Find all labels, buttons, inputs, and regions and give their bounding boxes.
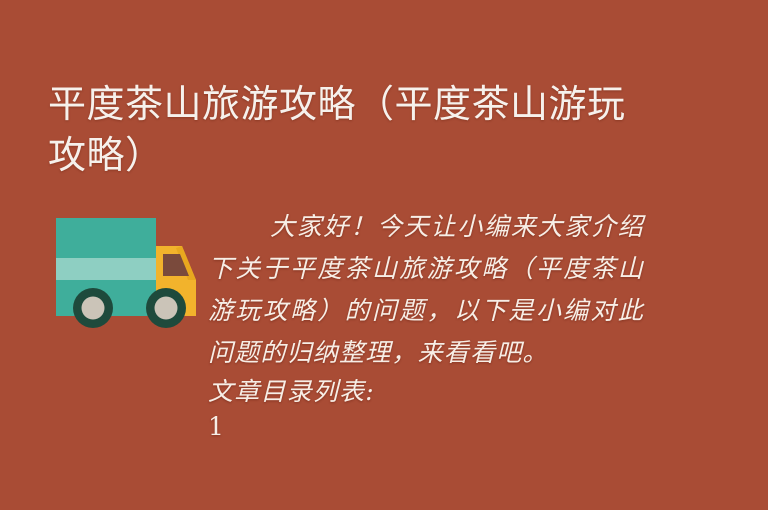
truck-cargo-upper (56, 218, 156, 258)
article-body: 大家好！今天让小编来大家介绍下关于平度茶山旅游攻略（平度茶山游玩攻略）的问题，以… (208, 206, 644, 444)
article-intro-paragraph: 大家好！今天让小编来大家介绍下关于平度茶山旅游攻略（平度茶山游玩攻略）的问题，以… (208, 206, 644, 374)
toc-first-item: 1 (208, 410, 644, 444)
delivery-truck-icon (50, 208, 202, 330)
truck-wheel-front-hub (155, 297, 178, 320)
delivery-truck-svg (50, 208, 202, 330)
truck-wheel-rear-hub (82, 297, 105, 320)
page-title: 平度茶山旅游攻略（平度茶山游玩攻略） (48, 79, 628, 181)
toc-heading: 文章目录列表: (208, 374, 644, 410)
article-card: 平度茶山旅游攻略（平度茶山游玩攻略） 大家好！今天让小编来大家介绍下关于平度茶山… (0, 0, 768, 510)
truck-cargo-stripe (56, 258, 156, 280)
